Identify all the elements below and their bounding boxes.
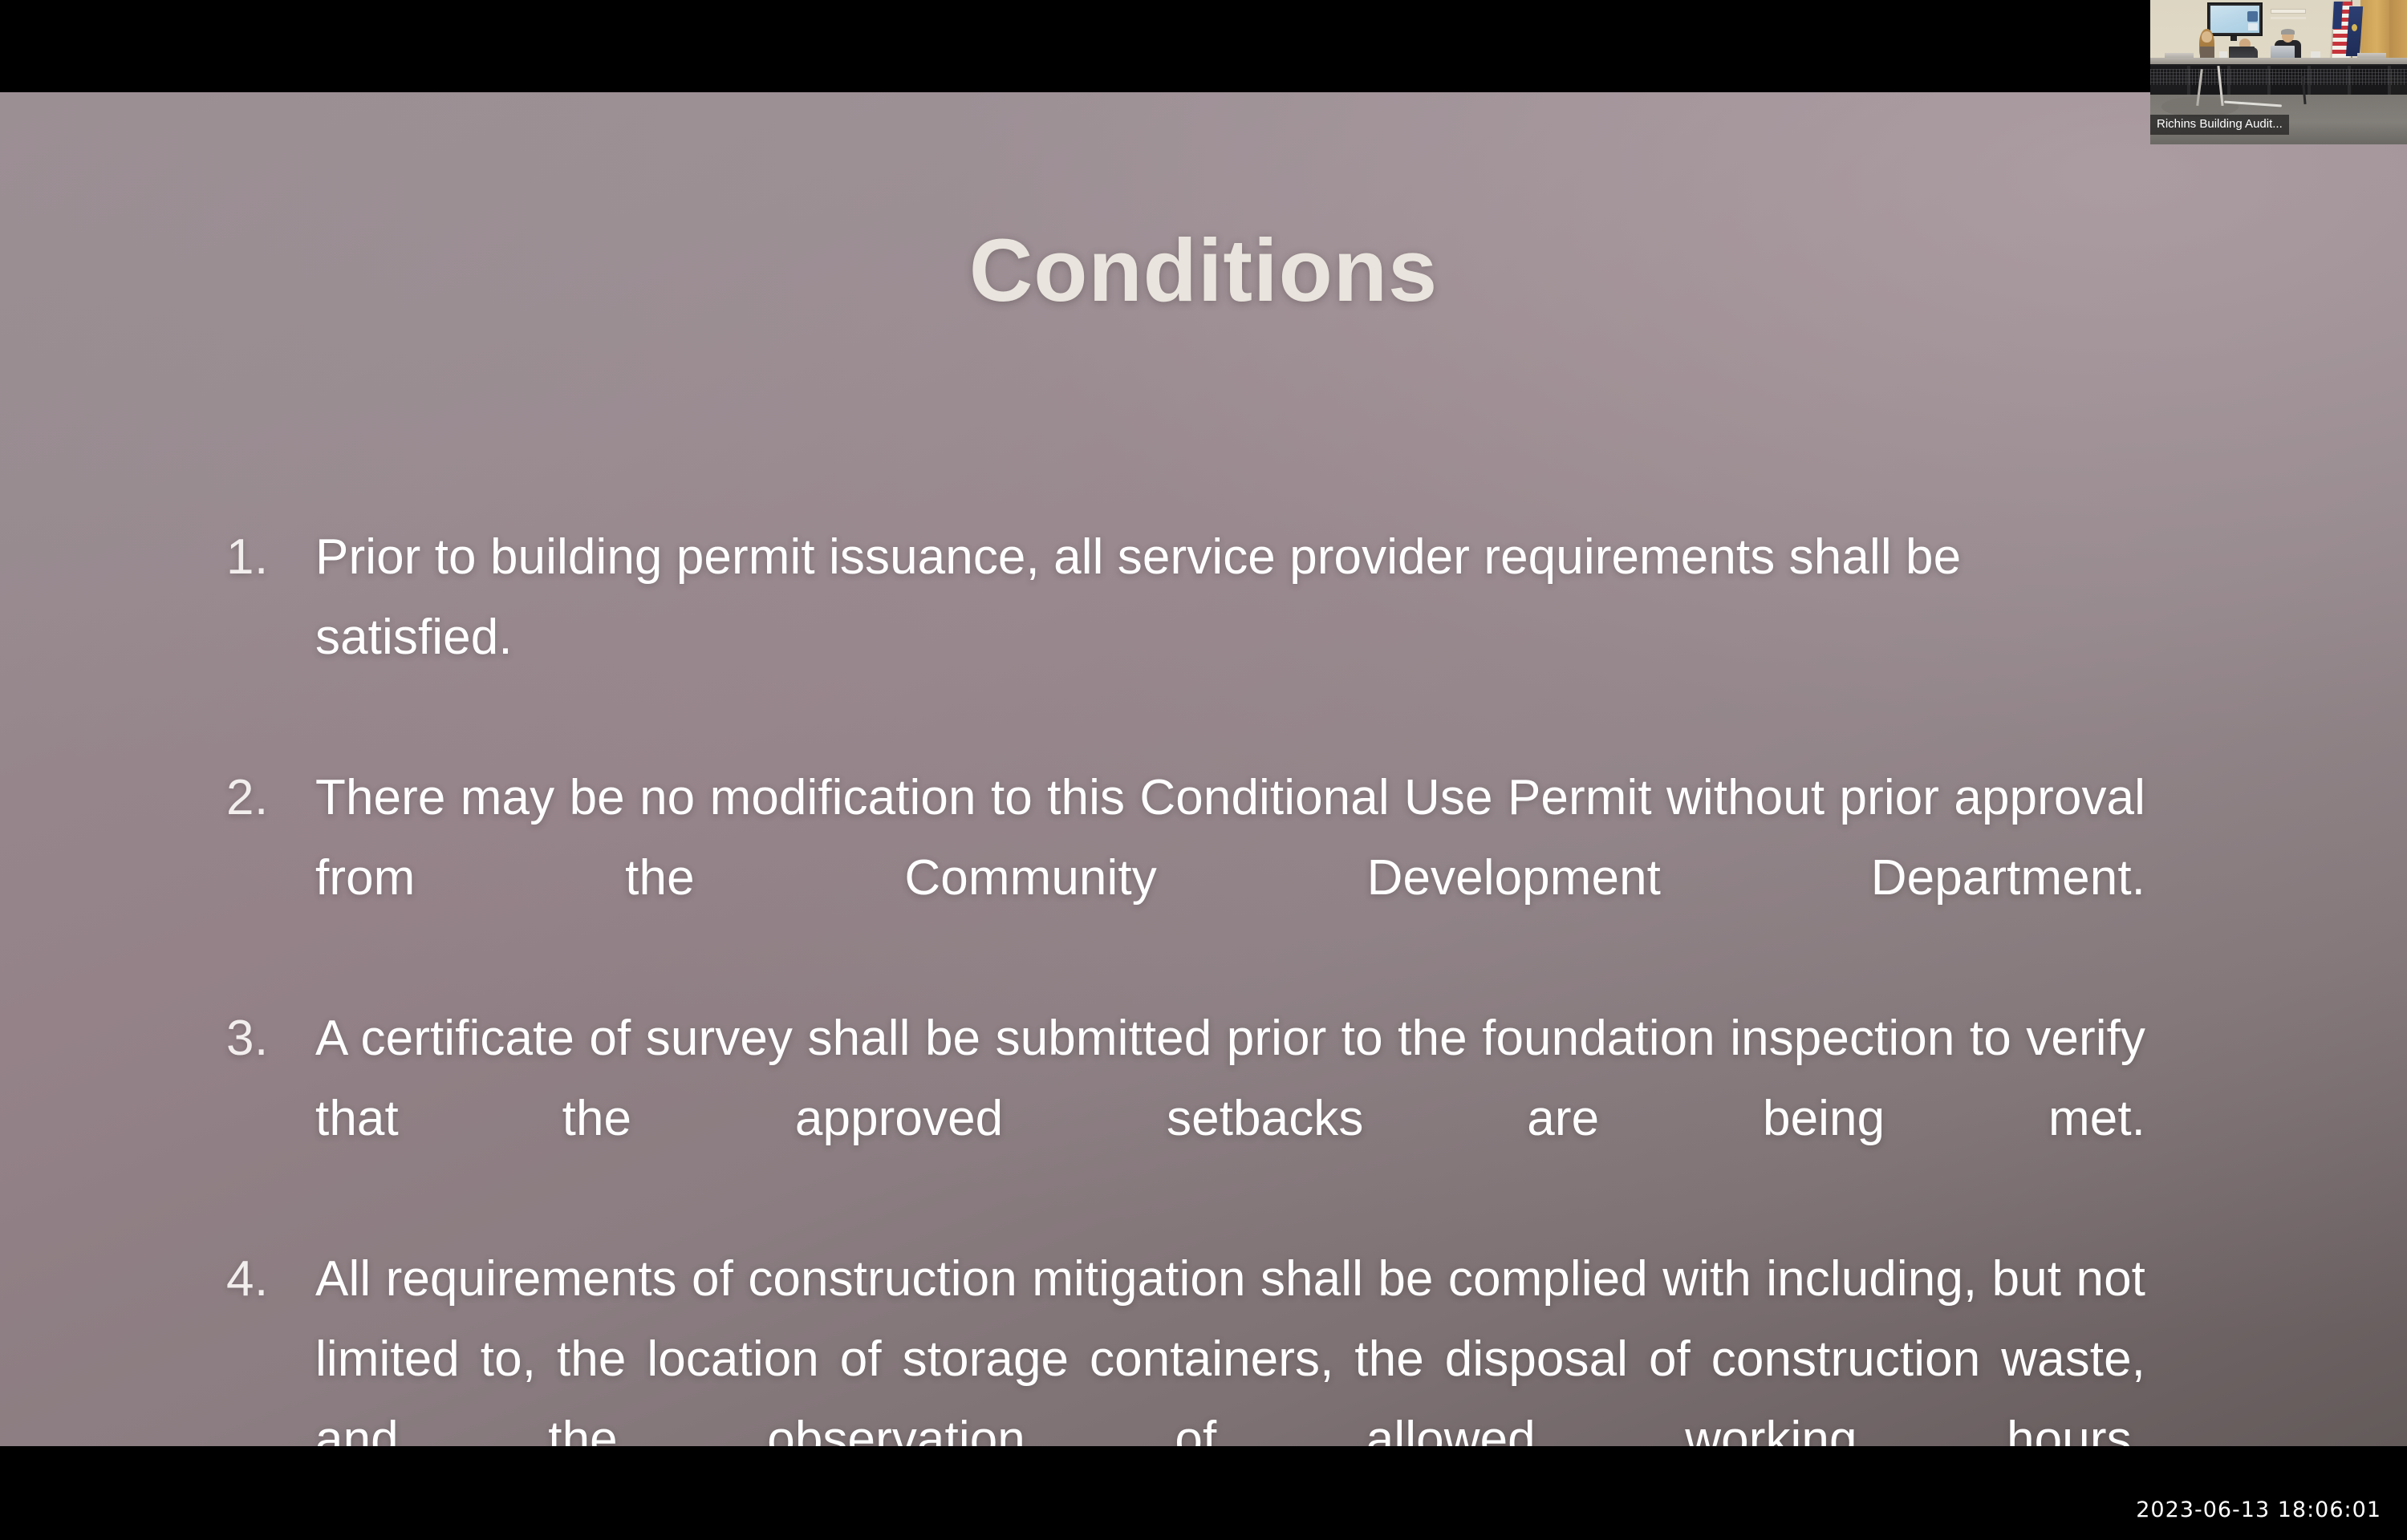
list-item-number: 2. [226, 758, 290, 838]
camera-thumbnail-label: Richins Building Audit... [2150, 115, 2289, 135]
list-item: 3. A certificate of survey shall be subm… [226, 999, 2145, 1239]
conditions-list: 1. Prior to building permit issuance, al… [226, 517, 2145, 1446]
list-item-text: A certificate of survey shall be submitt… [315, 999, 2145, 1239]
list-item: 4. All requirements of construction miti… [226, 1239, 2145, 1446]
list-item: 1. Prior to building permit issuance, al… [226, 517, 2145, 758]
list-item-text: All requirements of construction mitigat… [315, 1239, 2145, 1446]
list-item: 2. There may be no modification to this … [226, 758, 2145, 999]
list-item-text: Prior to building permit issuance, all s… [315, 517, 2145, 758]
camera-thumbnail[interactable]: Richins Building Audit... [2150, 0, 2407, 144]
video-player-screen: Conditions 1. Prior to building permit i… [0, 0, 2407, 1540]
list-item-number: 3. [226, 999, 290, 1079]
page-title: Conditions [0, 225, 2407, 318]
recording-timestamp: 2023-06-13 18:06:01 [2136, 1497, 2381, 1522]
list-item-number: 1. [226, 517, 290, 598]
list-item-text: There may be no modification to this Con… [315, 758, 2145, 999]
presentation-slide: Conditions 1. Prior to building permit i… [0, 92, 2407, 1446]
list-item-number: 4. [226, 1239, 290, 1319]
